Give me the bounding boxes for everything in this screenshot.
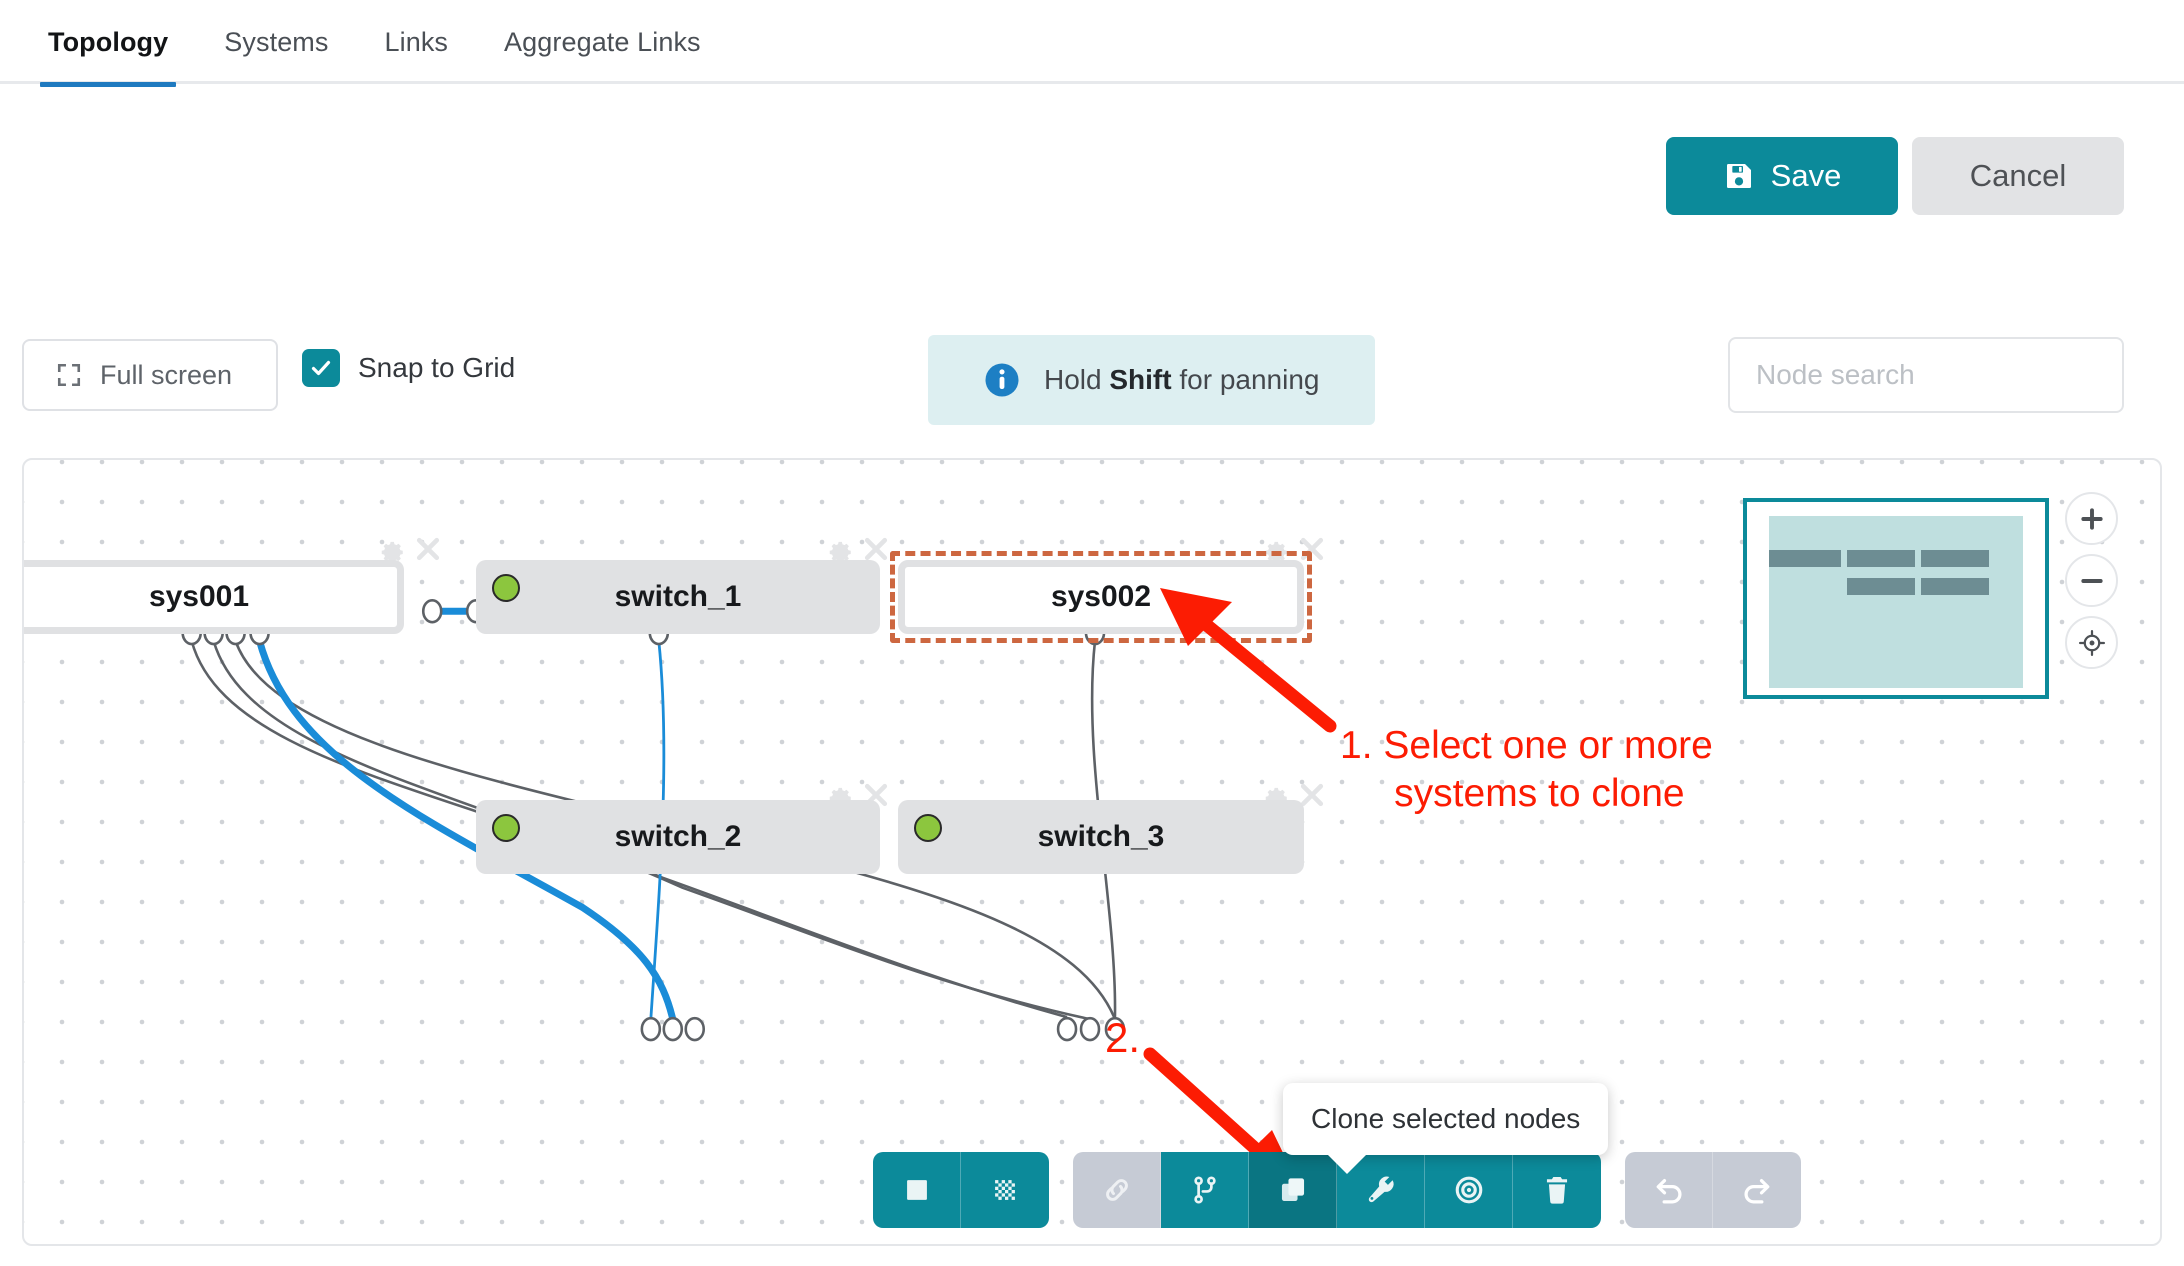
zoom-in-button[interactable] [2065,492,2118,545]
minimap-panel[interactable] [1743,498,2049,699]
marquee-select-button[interactable] [961,1152,1049,1228]
filled-square-icon [900,1173,934,1207]
delete-button[interactable] [1513,1152,1601,1228]
node-switch_1[interactable]: switch_1 [476,560,880,634]
close-icon[interactable] [414,535,442,563]
zoom-out-button[interactable] [2065,554,2118,607]
check-icon [309,356,333,380]
action-button-group: Save Cancel [1666,137,2124,215]
node-switch_2-label: switch_2 [476,820,880,854]
target-icon [1452,1173,1486,1207]
cancel-button-label: Cancel [1970,158,2067,194]
snap-to-grid-toggle[interactable]: Snap to Grid [302,349,515,387]
undo-button[interactable] [1625,1152,1713,1228]
fullscreen-button-label: Full screen [100,360,232,391]
plus-icon [2079,506,2105,532]
copy-icon [1276,1173,1310,1207]
minus-icon [2079,568,2105,594]
select-mode-button[interactable] [873,1152,961,1228]
branch-icon [1188,1173,1222,1207]
pan-hint-suffix: for panning [1172,364,1320,395]
node-switch_2[interactable]: switch_2 [476,800,880,874]
tab-links-label: Links [385,27,449,58]
pan-hint-banner: Hold Shift for panning [928,335,1375,425]
minimap-node [1847,550,1915,567]
info-circle-icon [984,362,1020,398]
zoom-controls [2065,492,2118,669]
aggregate-link-button[interactable] [1161,1152,1249,1228]
snap-to-grid-checkbox[interactable] [302,349,340,387]
node-sys002[interactable]: sys002 [898,560,1304,634]
node-search-box[interactable] [1728,337,2124,413]
annotation-step-1: 1. Select one or more systems to clone [1340,722,1713,817]
node-switch_3-label: switch_3 [898,820,1304,854]
minimap-node [1921,578,1989,595]
link-icon [1100,1173,1134,1207]
toolbar-group-history [1625,1152,1801,1228]
add-link-button[interactable] [1073,1152,1161,1228]
tab-systems-label: Systems [224,27,328,58]
save-button-label: Save [1771,158,1842,194]
tab-links[interactable]: Links [357,0,477,84]
main-tab-bar: Topology Systems Links Aggregate Links [0,0,2184,84]
crosshair-icon [2078,629,2106,657]
close-icon[interactable] [862,535,890,563]
recenter-button[interactable] [2065,616,2118,669]
pan-hint-text: Hold Shift for panning [1044,364,1319,396]
target-button[interactable] [1425,1152,1513,1228]
checkered-square-icon [988,1173,1022,1207]
node-search-input[interactable] [1756,359,2117,391]
fullscreen-button[interactable]: Full screen [22,339,278,411]
snap-to-grid-label: Snap to Grid [358,352,515,384]
toolbar-group-mode [873,1152,1049,1228]
cancel-button[interactable]: Cancel [1912,137,2124,215]
redo-button[interactable] [1713,1152,1801,1228]
node-switch_3[interactable]: switch_3 [898,800,1304,874]
pan-hint-key: Shift [1109,364,1171,395]
node-sys001[interactable]: sys001 [22,560,404,634]
node-sys002-label: sys002 [905,580,1297,614]
redo-icon [1740,1173,1774,1207]
tab-aggregate-links-label: Aggregate Links [504,27,701,58]
save-button[interactable]: Save [1666,137,1898,215]
tab-systems[interactable]: Systems [196,0,356,84]
annotation-step-2: 2. [1105,1012,1140,1063]
minimap-viewport[interactable] [1769,516,2023,688]
clone-button[interactable] [1249,1152,1337,1228]
node-sys001-label: sys001 [22,580,397,614]
tab-topology-label: Topology [48,27,168,58]
topology-editor-page: Topology Systems Links Aggregate Links S… [0,0,2184,1266]
minimap-node [1847,578,1915,595]
save-floppy-icon [1723,160,1755,192]
node-switch_1-label: switch_1 [476,580,880,614]
undo-icon [1652,1173,1686,1207]
minimap-node [1921,550,1989,567]
minimap-node [1769,550,1841,567]
clone-button-tooltip: Clone selected nodes [1283,1083,1608,1155]
tab-topology[interactable]: Topology [20,0,196,84]
expand-icon [56,362,82,388]
wrench-icon [1364,1173,1398,1207]
trash-icon [1540,1173,1574,1207]
tab-aggregate-links[interactable]: Aggregate Links [476,0,729,84]
canvas-controls-row: Full screen Snap to Grid Hold Shift for … [0,335,2184,443]
pan-hint-prefix: Hold [1044,364,1109,395]
